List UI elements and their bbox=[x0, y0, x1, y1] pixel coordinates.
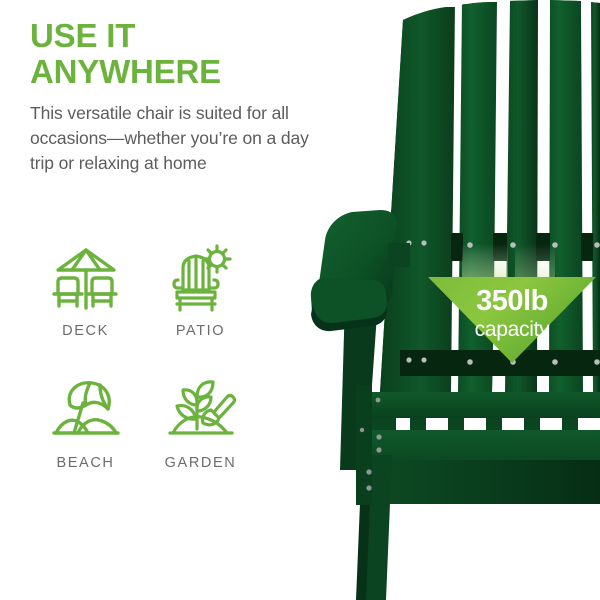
use-case-label: PATIO bbox=[176, 323, 225, 339]
headline-line-2: ANYWHERE bbox=[30, 54, 330, 90]
use-case-label: BEACH bbox=[57, 455, 115, 471]
patio-chair-sun-icon bbox=[165, 242, 237, 316]
use-case-label: GARDEN bbox=[165, 455, 237, 471]
promo-image: USE IT ANYWHERE This versatile chair is … bbox=[0, 0, 600, 600]
use-case-grid: DECK bbox=[28, 242, 268, 471]
promo-subcopy: This versatile chair is suited for all o… bbox=[30, 101, 330, 176]
garden-plant-trowel-icon bbox=[165, 374, 237, 448]
chair-seat-assembly bbox=[356, 385, 600, 600]
use-case-row-1: DECK bbox=[28, 242, 268, 339]
promo-copy-block: USE IT ANYWHERE This versatile chair is … bbox=[30, 18, 330, 176]
beach-umbrella-icon bbox=[50, 374, 122, 448]
use-case-row-2: BEACH bbox=[28, 374, 268, 471]
use-case-beach: BEACH bbox=[28, 374, 143, 471]
capacity-arrow-shape bbox=[428, 277, 596, 363]
use-case-garden: GARDEN bbox=[143, 374, 258, 471]
use-case-deck: DECK bbox=[28, 242, 143, 339]
status-badge: 350lb capacity bbox=[428, 277, 596, 363]
deck-umbrella-chairs-icon bbox=[50, 242, 122, 316]
use-case-label: DECK bbox=[62, 323, 109, 339]
use-case-patio: PATIO bbox=[143, 242, 258, 339]
page-title: USE IT ANYWHERE bbox=[30, 18, 330, 89]
headline-line-1: USE IT bbox=[30, 17, 135, 54]
